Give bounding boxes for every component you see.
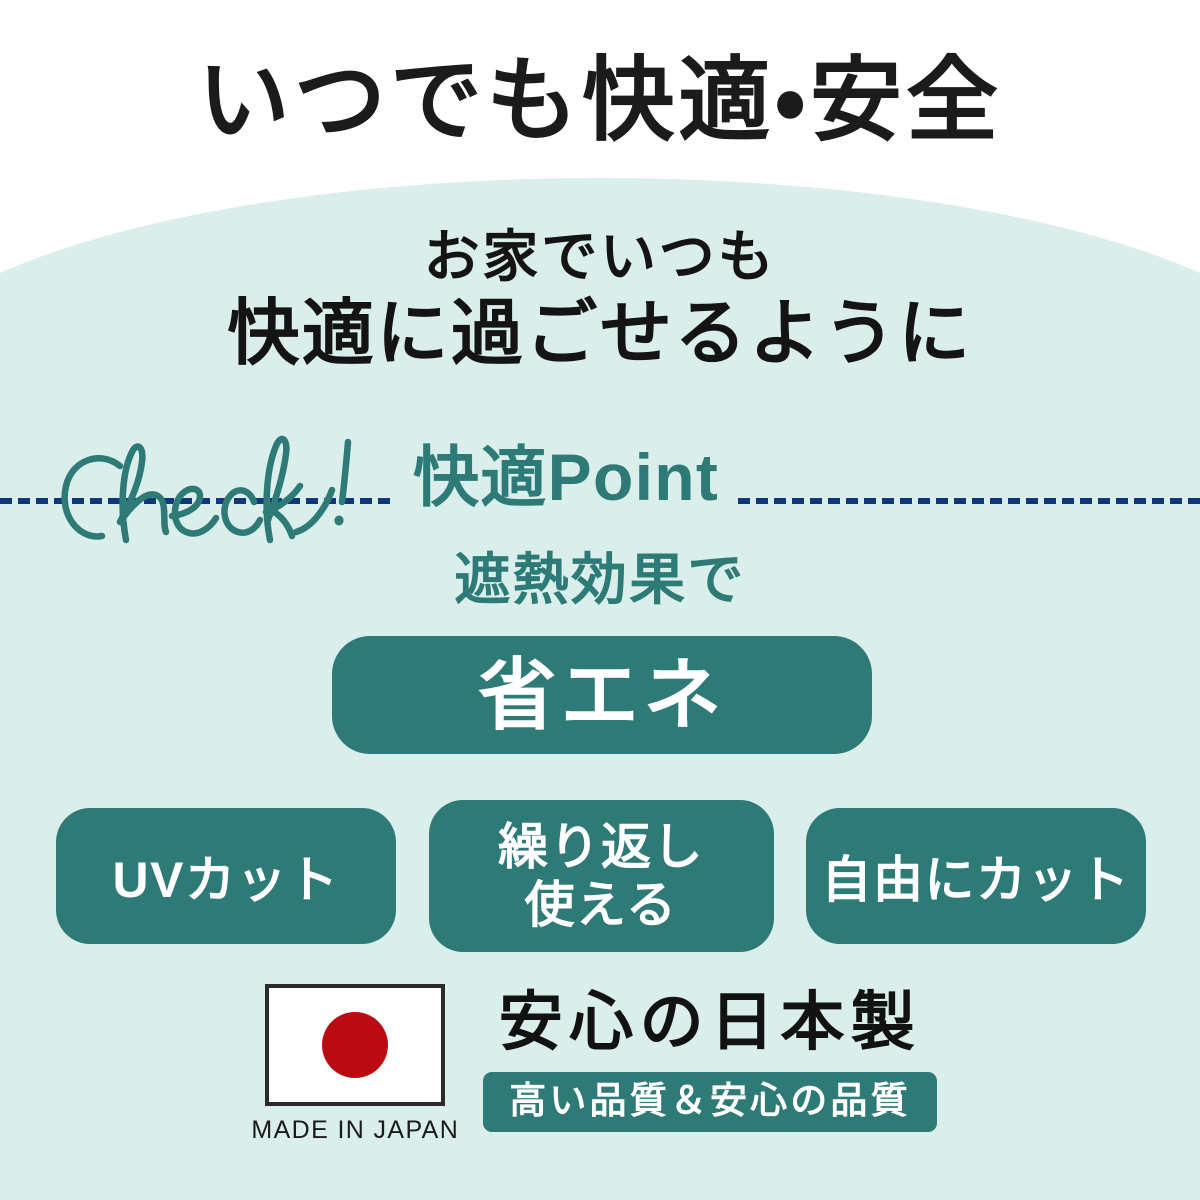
japan-made-title: 安心の日本製 — [499, 986, 921, 1060]
feature-badge-uv-cut-label: UVカット — [113, 840, 340, 912]
energy-saving-label: 省エネ — [478, 656, 726, 734]
made-in-japan-caption: MADE IN JAPAN — [251, 1116, 459, 1145]
feature-badge-reusable: 繰り返し 使える — [429, 800, 774, 952]
made-in-japan-block: MADE IN JAPAN 安心の日本製 高い品質＆安心の品質 — [0, 980, 1200, 1145]
feature-badge-row: UVカット 繰り返し 使える 自由にカット — [56, 800, 1146, 952]
product-feature-infographic: いつでも快適・安全 お家でいつも 快適に過ごせるように — [0, 0, 1200, 1200]
check-point-divider-row: 快適Point — [0, 430, 1200, 540]
check-script-icon — [48, 428, 378, 548]
energy-saving-badge: 省エネ — [332, 636, 872, 754]
comfort-point-label: 快適Point — [395, 438, 737, 517]
feature-badge-uv-cut: UVカット — [56, 808, 396, 944]
feature-badge-reusable-line-1: 繰り返し — [498, 818, 704, 876]
japan-flag-icon — [265, 984, 445, 1106]
page-title: いつでも快適・安全 — [0, 52, 1200, 151]
heat-shield-caption: 遮熱効果で — [0, 546, 1200, 613]
subheading-line-1: お家でいつも — [0, 226, 1200, 289]
quality-assurance-band: 高い品質＆安心の品質 — [483, 1072, 936, 1133]
subheading-line-2: 快適に過ごせるように — [0, 293, 1200, 375]
japan-text-column: 安心の日本製 高い品質＆安心の品質 — [483, 980, 936, 1132]
japan-flag-sun-disc — [322, 1012, 388, 1078]
feature-badge-free-cut-label: 自由にカット — [822, 840, 1131, 912]
feature-badge-reusable-line-2: 使える — [525, 876, 678, 934]
subheading-block: お家でいつも 快適に過ごせるように — [0, 226, 1200, 375]
japan-flag-group: MADE IN JAPAN — [263, 984, 447, 1145]
feature-badge-free-cut: 自由にカット — [806, 808, 1146, 944]
